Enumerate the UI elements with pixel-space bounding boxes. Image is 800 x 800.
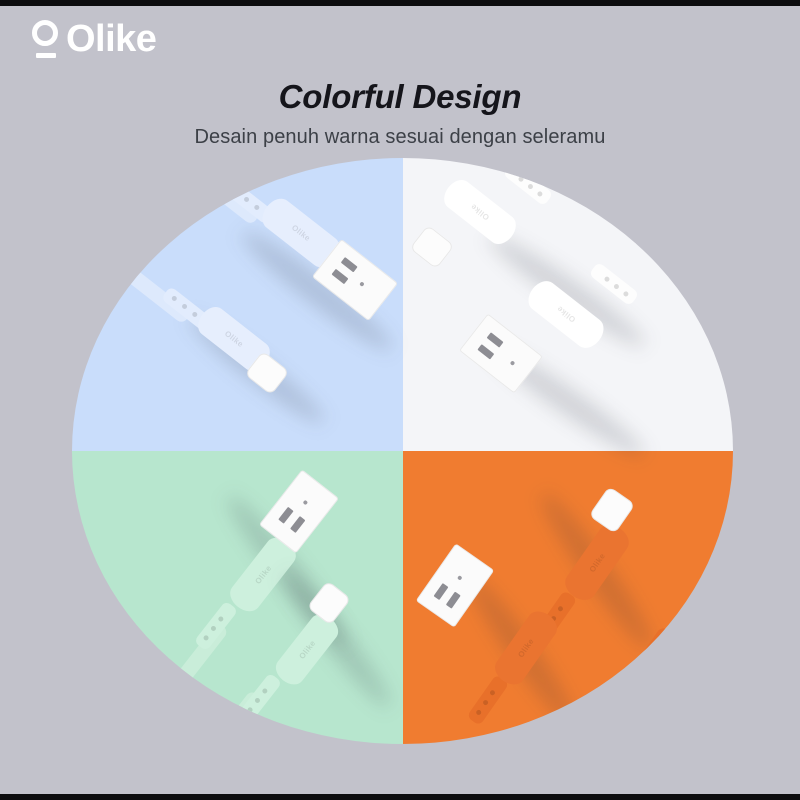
logo-ring-shape (32, 20, 58, 46)
logo-bar-shape (36, 53, 56, 58)
housing-emboss: Olike (297, 638, 317, 660)
page-title: Colorful Design (0, 78, 800, 116)
brand-name: Olike (66, 20, 156, 58)
letterbox-band-bottom (0, 794, 800, 800)
housing-emboss: Olike (253, 563, 273, 585)
housing-emboss: Olike (223, 329, 245, 349)
housing-emboss: Olike (469, 202, 491, 222)
housing-emboss: Olike (555, 304, 577, 324)
page-subtitle: Desain penuh warna sesuai dengan seleram… (0, 126, 800, 149)
housing-emboss: Olike (587, 551, 606, 573)
olike-circle-bar-logo-icon (30, 18, 64, 62)
letterbox-band-top (0, 0, 800, 6)
product-banner: Olike Colorful Design Desain penuh warna… (0, 0, 800, 800)
brand-logo: Olike (30, 18, 156, 62)
housing-emboss: Olike (290, 223, 312, 243)
color-showcase-circle: Olike Olike (72, 158, 733, 744)
housing-emboss: Olike (516, 637, 535, 659)
